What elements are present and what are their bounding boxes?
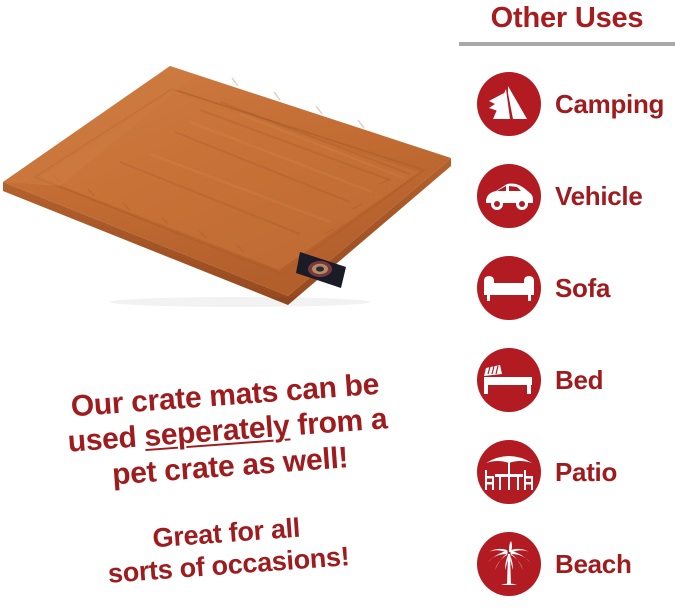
use-label-beach: Beach — [555, 549, 632, 580]
panel-title: Other Uses — [455, 2, 679, 35]
tent-icon — [477, 72, 541, 136]
use-row-beach: Beach — [455, 518, 679, 610]
use-row-patio: Patio — [455, 426, 679, 518]
product-photo — [0, 62, 455, 310]
uses-list: Camping Vehicle — [455, 58, 679, 610]
use-row-bed: Bed — [455, 334, 679, 426]
copy-line-2-before: used — [67, 421, 146, 460]
marketing-copy-primary: Our crate mats can be used seperately fr… — [0, 361, 458, 500]
bed-icon — [477, 348, 541, 412]
use-label-bed: Bed — [555, 365, 603, 396]
other-uses-panel: Other Uses Camping — [455, 0, 679, 593]
palm-tree-icon — [477, 532, 541, 596]
title-divider — [459, 42, 675, 46]
marketing-copy-secondary: Great for all sorts of occasions! — [0, 501, 457, 598]
copy-line-2-after: from a — [288, 403, 388, 443]
use-label-patio: Patio — [555, 457, 617, 488]
patio-umbrella-icon — [477, 440, 541, 504]
use-row-camping: Camping — [455, 58, 679, 150]
use-label-sofa: Sofa — [555, 273, 610, 304]
use-row-vehicle: Vehicle — [455, 150, 679, 242]
use-label-camping: Camping — [555, 89, 664, 120]
left-column: Our crate mats can be used seperately fr… — [0, 0, 455, 593]
use-label-vehicle: Vehicle — [555, 181, 643, 212]
marketing-image: Our crate mats can be used seperately fr… — [0, 0, 679, 593]
use-row-sofa: Sofa — [455, 242, 679, 334]
car-icon — [477, 164, 541, 228]
sofa-icon — [477, 256, 541, 320]
